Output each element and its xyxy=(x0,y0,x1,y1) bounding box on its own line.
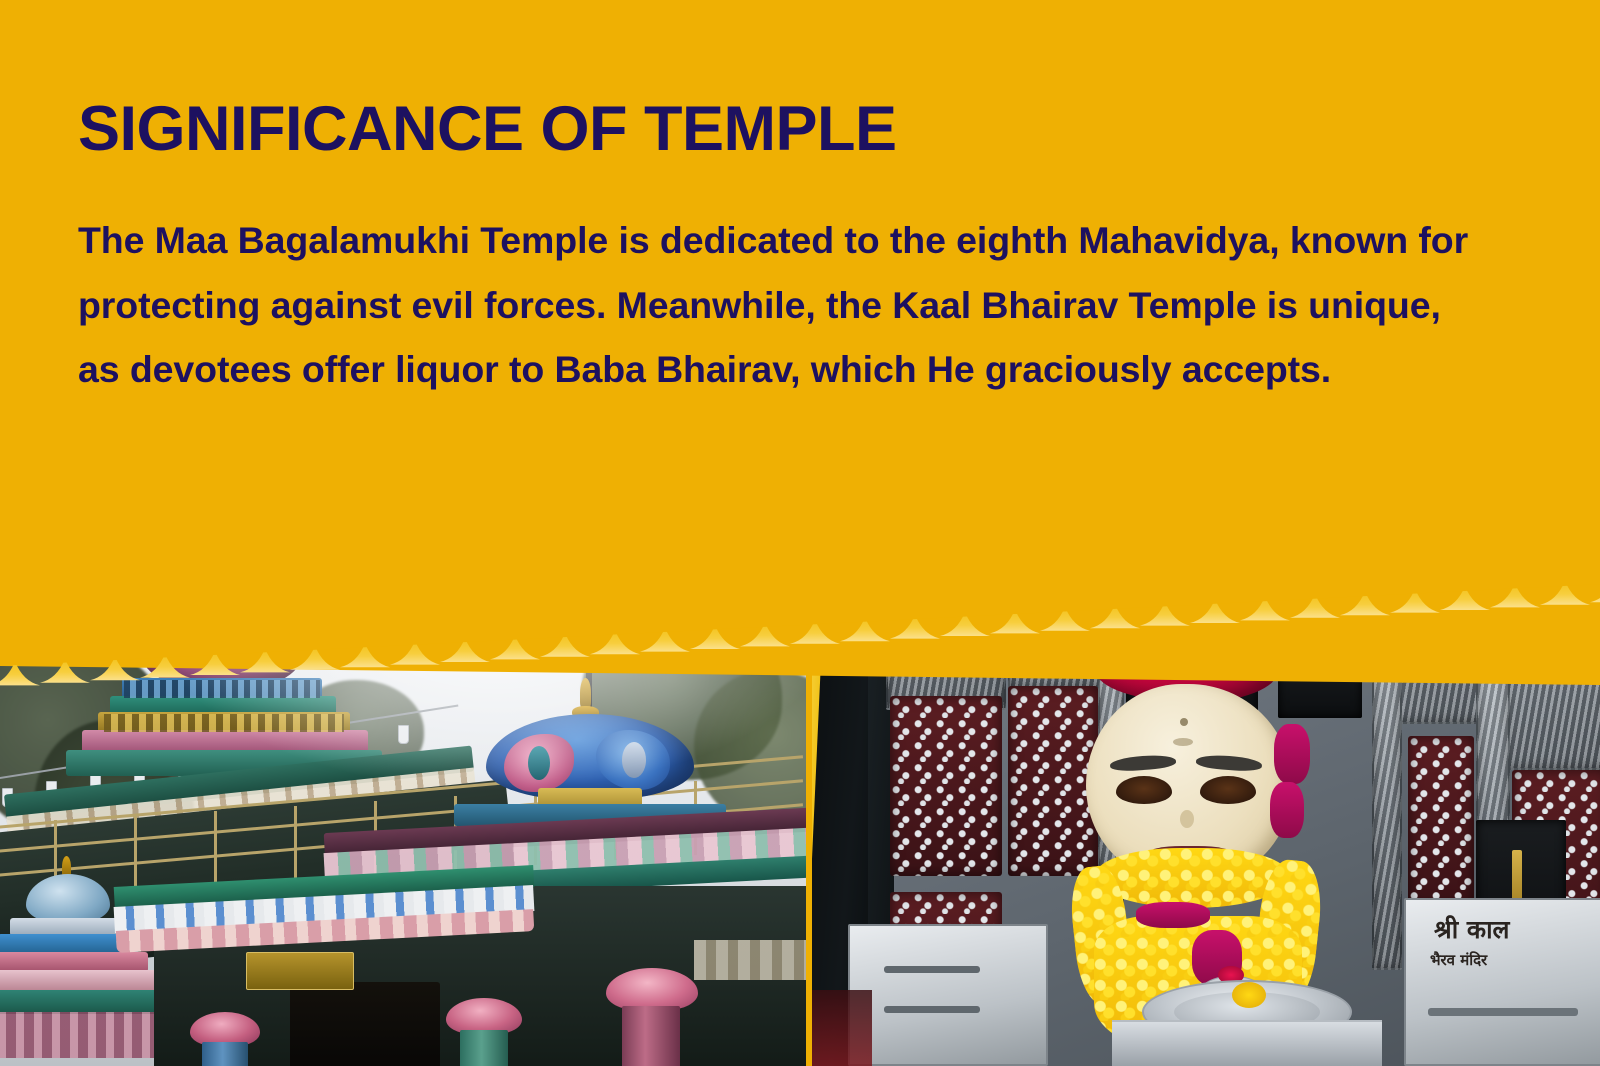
page-title: SIGNIFICANCE OF TEMPLE xyxy=(78,96,1508,162)
photo-strip: श्री काल भैरव मंदिर xyxy=(0,520,1600,1066)
slide-root: SIGNIFICANCE OF TEMPLE The Maa Bagalamuk… xyxy=(0,0,1600,1066)
bagalamukhi-temple-photo xyxy=(0,520,806,1066)
bhairav-image-canvas: श्री काल भैरव मंदिर xyxy=(812,520,1600,1066)
shrine-signage-line1: श्री काल xyxy=(1434,916,1600,945)
text-block: SIGNIFICANCE OF TEMPLE The Maa Bagalamuk… xyxy=(78,96,1508,402)
body-paragraph: The Maa Bagalamukhi Temple is dedicated … xyxy=(78,208,1488,402)
donation-box-left xyxy=(848,924,1048,1066)
temple-image-canvas xyxy=(0,520,806,1066)
shrine-signage-line2: भैरव मंदिर xyxy=(1430,952,1600,969)
kaal-bhairav-shrine-photo: श्री काल भैरव मंदिर xyxy=(812,520,1600,1066)
